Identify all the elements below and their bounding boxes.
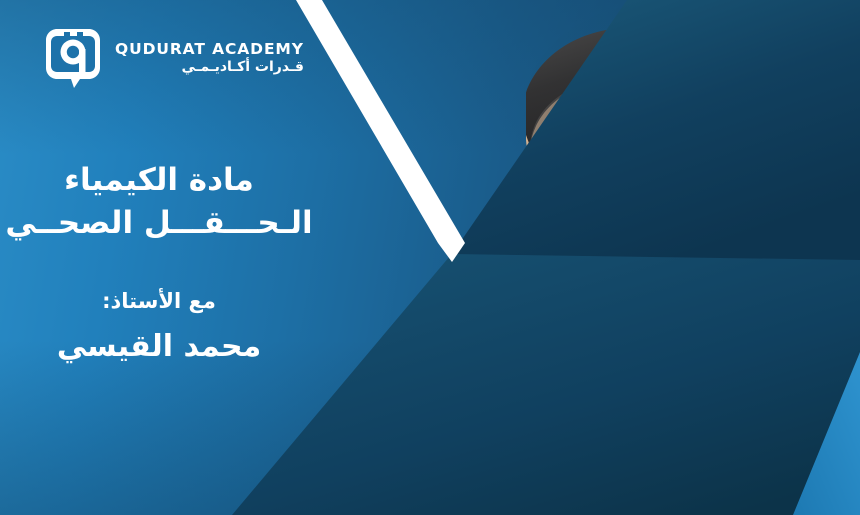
portrait-tint: [330, 0, 860, 515]
course-banner: Reebok QUDURAT ACADEMY قـدرات أكـاديـمـي: [0, 0, 860, 515]
course-title: مادة الكيمياء الـحـــقـــل الصحــي: [0, 160, 318, 244]
brand-logo[interactable]: QUDURAT ACADEMY قـدرات أكـاديـمـي: [44, 27, 304, 89]
course-title-line2: الـحـــقـــل الصحــي: [0, 203, 318, 244]
brand-name-en: QUDURAT ACADEMY: [115, 41, 304, 57]
brand-logo-text: QUDURAT ACADEMY قـدرات أكـاديـمـي: [115, 41, 304, 74]
instructor-credit-label: مع الأستاذ:: [0, 288, 318, 315]
instructor-credit: مع الأستاذ: محمد القيسي: [0, 288, 318, 368]
brand-name-ar: قـدرات أكـاديـمـي: [115, 59, 304, 75]
instructor-portrait: Reebok: [330, 0, 860, 515]
instructor-name: محمد القيسي: [0, 327, 318, 368]
course-title-line1: مادة الكيمياء: [0, 160, 318, 201]
qudurat-speech-bubble-q-icon: [44, 27, 102, 89]
